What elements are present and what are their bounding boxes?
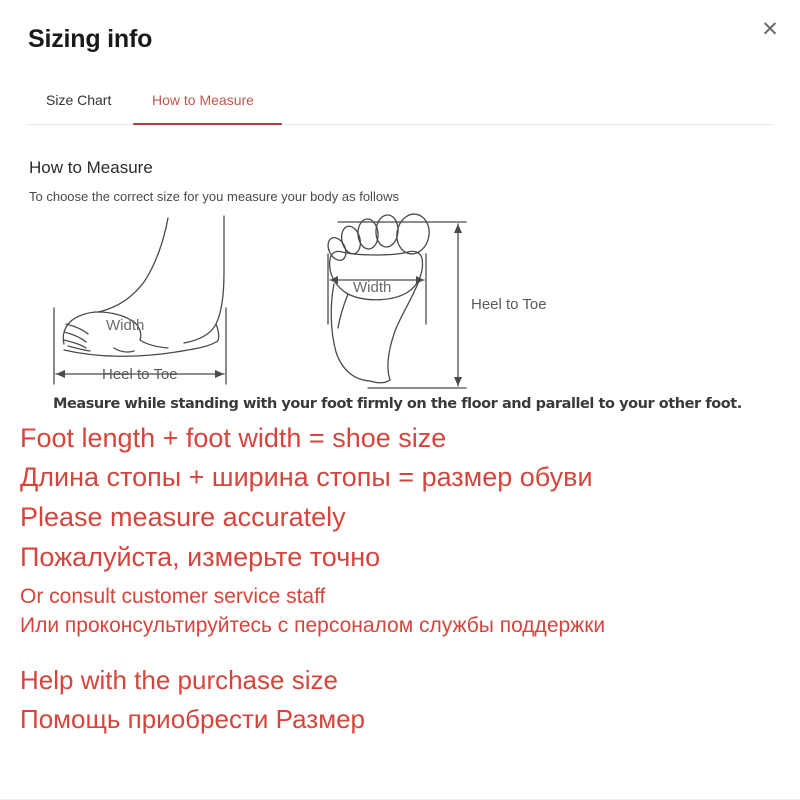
close-icon[interactable]: ✕ (757, 16, 783, 42)
promo-line-2: Длина стопы + ширина стопы = размер обув… (20, 460, 593, 494)
top-view-width-label: Width (353, 279, 391, 296)
foot-diagram-svg: Width Heel to Toe Width Heel to Toe (28, 212, 558, 390)
promo-line-6: Или проконсультируйтесь с персоналом слу… (20, 612, 605, 639)
promo-line-4: Пожалуйста, измерьте точно (20, 540, 380, 574)
promo-line-3: Please measure accurately (20, 500, 346, 534)
top-view-length-label: Heel to Toe (471, 296, 547, 313)
page-title: Sizing info (28, 24, 152, 54)
top-view-foot (325, 212, 433, 383)
foot-measurement-diagram: Width Heel to Toe Width Heel to Toe (28, 212, 558, 390)
diagram-caption: Measure while standing with your foot fi… (53, 396, 742, 412)
promo-line-1: Foot length + foot width = shoe size (20, 421, 446, 455)
side-view-foot (63, 216, 224, 356)
promo-line-8: Помощь приобрести Размер (20, 703, 365, 736)
promo-line-7: Help with the purchase size (20, 664, 338, 697)
sizing-info-modal: Sizing info ✕ Size Chart How to Measure … (0, 0, 800, 800)
active-tab-indicator (133, 123, 282, 125)
side-view-length-label: Heel to Toe (102, 366, 178, 383)
tab-bar: Size Chart How to Measure (28, 90, 773, 126)
tab-size-chart[interactable]: Size Chart (46, 90, 111, 123)
side-view-width-label: Width (106, 317, 144, 334)
promo-line-5: Or consult customer service staff (20, 583, 325, 610)
section-subheading: To choose the correct size for you measu… (29, 188, 399, 206)
tab-how-to-measure[interactable]: How to Measure (152, 90, 254, 123)
section-heading: How to Measure (29, 157, 153, 179)
